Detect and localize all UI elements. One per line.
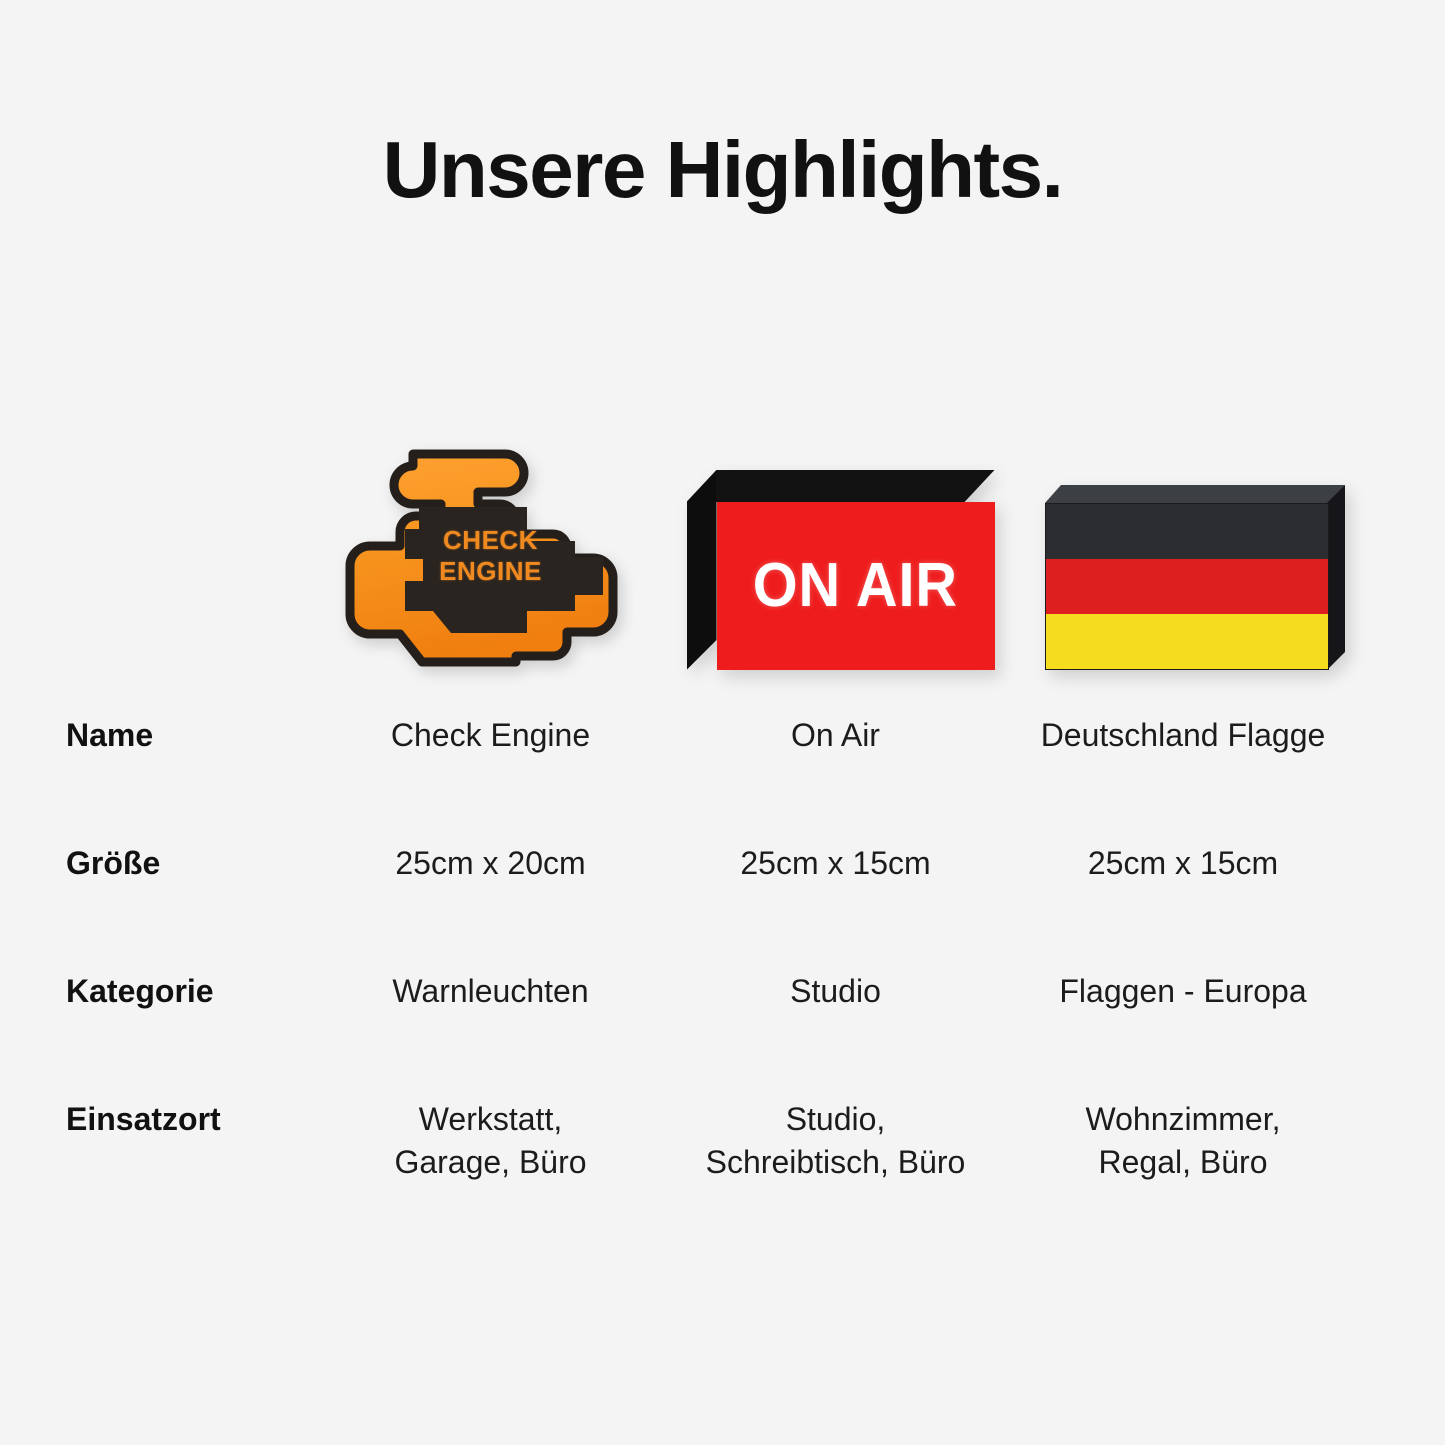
cell-name-on-air: On Air xyxy=(663,690,1008,757)
table-row-groesse: Größe 25cm x 20cm 25cm x 15cm 25cm x 15c… xyxy=(0,818,1445,946)
flag-side-face xyxy=(1327,485,1345,670)
on-air-side-face xyxy=(687,470,719,670)
product-image-deutschland-flagge[interactable] xyxy=(1020,410,1370,670)
cell-kategorie-on-air: Studio xyxy=(663,946,1008,1013)
row-label-kategorie: Kategorie xyxy=(0,946,318,1013)
check-engine-icon: CHECK ENGINE xyxy=(341,445,641,670)
einsatzort-line: Wohnzimmer, xyxy=(1008,1098,1358,1141)
cell-groesse-deutschland-flagge: 25cm x 15cm xyxy=(1008,818,1358,885)
cell-einsatzort-check-engine: Werkstatt, Garage, Büro xyxy=(318,1074,663,1184)
product-image-on-air[interactable]: ON AIR xyxy=(668,410,1013,670)
row-label-einsatzort: Einsatzort xyxy=(0,1074,318,1141)
einsatzort-line: Schreibtisch, Büro xyxy=(663,1141,1008,1184)
einsatzort-line: Studio, xyxy=(663,1098,1008,1141)
page-title: Unsere Highlights. xyxy=(0,128,1445,212)
einsatzort-line: Garage, Büro xyxy=(318,1141,663,1184)
flag-band-red xyxy=(1046,559,1328,614)
table-row-kategorie: Kategorie Warnleuchten Studio Flaggen - … xyxy=(0,946,1445,1074)
cell-name-check-engine: Check Engine xyxy=(318,690,663,757)
flag-band-gold xyxy=(1046,614,1328,669)
flag-front-face xyxy=(1045,503,1329,670)
on-air-label: ON AIR xyxy=(753,555,958,617)
flag-band-black xyxy=(1046,504,1328,559)
flag-top-face xyxy=(1045,485,1345,503)
table-row-einsatzort: Einsatzort Werkstatt, Garage, Büro Studi… xyxy=(0,1074,1445,1234)
cell-groesse-check-engine: 25cm x 20cm xyxy=(318,818,663,885)
cell-einsatzort-on-air: Studio, Schreibtisch, Büro xyxy=(663,1074,1008,1184)
einsatzort-line: Werkstatt, xyxy=(318,1098,663,1141)
cell-name-deutschland-flagge: Deutschland Flagge xyxy=(1008,690,1358,757)
cell-einsatzort-deutschland-flagge: Wohnzimmer, Regal, Büro xyxy=(1008,1074,1358,1184)
spec-table: Name Check Engine On Air Deutschland Fla… xyxy=(0,690,1445,1234)
german-flag-lightbox-icon xyxy=(1045,485,1345,670)
on-air-front-face: ON AIR xyxy=(717,502,995,670)
row-label-groesse: Größe xyxy=(0,818,318,885)
on-air-top-face xyxy=(687,470,995,502)
on-air-lightbox-icon: ON AIR xyxy=(687,470,995,670)
einsatzort-line: Regal, Büro xyxy=(1008,1141,1358,1184)
cell-groesse-on-air: 25cm x 15cm xyxy=(663,818,1008,885)
row-label-name: Name xyxy=(0,690,318,757)
product-image-check-engine[interactable]: CHECK ENGINE xyxy=(318,410,663,670)
product-image-strip: CHECK ENGINE ON AIR xyxy=(0,410,1445,670)
table-row-name: Name Check Engine On Air Deutschland Fla… xyxy=(0,690,1445,818)
cell-kategorie-deutschland-flagge: Flaggen - Europa xyxy=(1008,946,1358,1013)
cell-kategorie-check-engine: Warnleuchten xyxy=(318,946,663,1013)
